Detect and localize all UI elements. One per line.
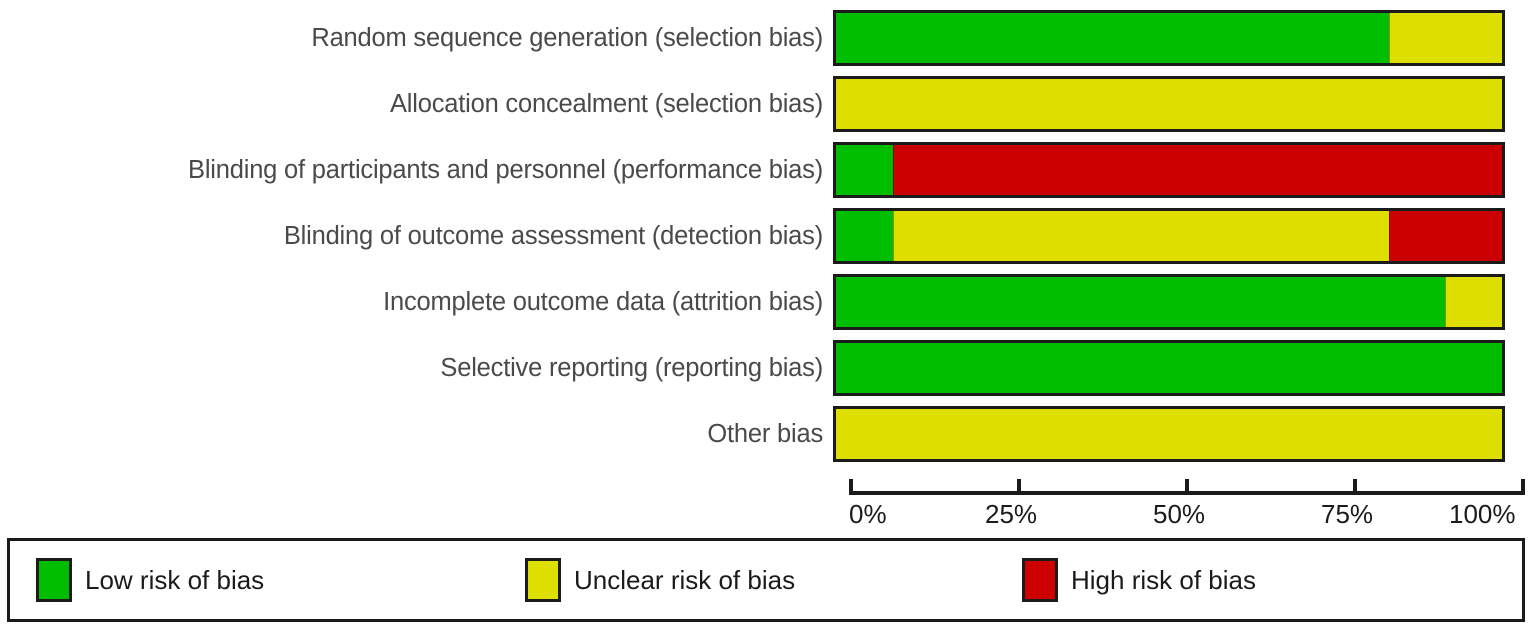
bias-bar — [833, 406, 1505, 462]
bias-row-label: Other bias — [0, 421, 833, 448]
x-axis-tick — [1353, 479, 1357, 495]
legend-swatch-unclear — [525, 558, 561, 602]
bias-bar-segment-unclear — [1445, 277, 1502, 327]
bias-bar — [833, 142, 1505, 198]
bias-row: Allocation concealment (selection bias) — [0, 76, 1535, 132]
x-axis-tick-label: 50% — [1153, 499, 1205, 530]
bias-row-label: Allocation concealment (selection bias) — [0, 91, 833, 118]
legend-item-high: High risk of bias — [1022, 558, 1256, 602]
bias-row: Incomplete outcome data (attrition bias) — [0, 274, 1535, 330]
x-axis-tick — [1521, 479, 1525, 495]
x-axis-tick — [1185, 479, 1189, 495]
bias-row: Other bias — [0, 406, 1535, 462]
bias-row-label: Blinding of outcome assessment (detectio… — [0, 223, 833, 250]
bias-bar — [833, 76, 1505, 132]
bias-row: Selective reporting (reporting bias) — [0, 340, 1535, 396]
legend: Low risk of biasUnclear risk of biasHigh… — [7, 538, 1525, 622]
bias-bar-segment-unclear — [893, 211, 1389, 261]
x-axis: 0%25%50%75%100% — [851, 477, 1523, 537]
legend-label: High risk of bias — [1071, 565, 1256, 596]
x-axis-tick-label: 25% — [985, 499, 1037, 530]
bias-bar-segment-unclear — [1389, 13, 1502, 63]
x-axis-tick-label: 0% — [849, 499, 887, 530]
bias-bar-segment-low — [836, 211, 893, 261]
bias-bar-segment-low — [836, 277, 1445, 327]
legend-swatch-high — [1022, 558, 1058, 602]
bias-bar-segment-high — [1389, 211, 1502, 261]
x-axis-tick-label: 100% — [1449, 499, 1516, 530]
bias-row-label: Incomplete outcome data (attrition bias) — [0, 289, 833, 316]
risk-of-bias-graph: Random sequence generation (selection bi… — [0, 0, 1535, 631]
bias-bar — [833, 340, 1505, 396]
bias-bar-segment-high — [893, 145, 1502, 195]
bias-row-label: Random sequence generation (selection bi… — [0, 25, 833, 52]
bias-bar — [833, 10, 1505, 66]
x-axis-tick-label: 75% — [1321, 499, 1373, 530]
bias-row: Blinding of participants and personnel (… — [0, 142, 1535, 198]
bias-row-label: Blinding of participants and personnel (… — [0, 157, 833, 184]
bias-rows-area: Random sequence generation (selection bi… — [0, 0, 1535, 470]
legend-label: Unclear risk of bias — [574, 565, 795, 596]
legend-item-low: Low risk of bias — [36, 558, 264, 602]
bias-bar-segment-low — [836, 145, 893, 195]
bias-bar — [833, 208, 1505, 264]
bias-row: Blinding of outcome assessment (detectio… — [0, 208, 1535, 264]
legend-label: Low risk of bias — [85, 565, 264, 596]
legend-item-unclear: Unclear risk of bias — [525, 558, 795, 602]
bias-bar-segment-unclear — [836, 79, 1502, 129]
x-axis-tick — [1017, 479, 1021, 495]
bias-bar-segment-low — [836, 343, 1502, 393]
bias-row-label: Selective reporting (reporting bias) — [0, 355, 833, 382]
bias-bar-segment-low — [836, 13, 1389, 63]
bias-bar-segment-unclear — [836, 409, 1502, 459]
bias-row: Random sequence generation (selection bi… — [0, 10, 1535, 66]
legend-swatch-low — [36, 558, 72, 602]
bias-bar — [833, 274, 1505, 330]
x-axis-tick — [849, 479, 853, 495]
